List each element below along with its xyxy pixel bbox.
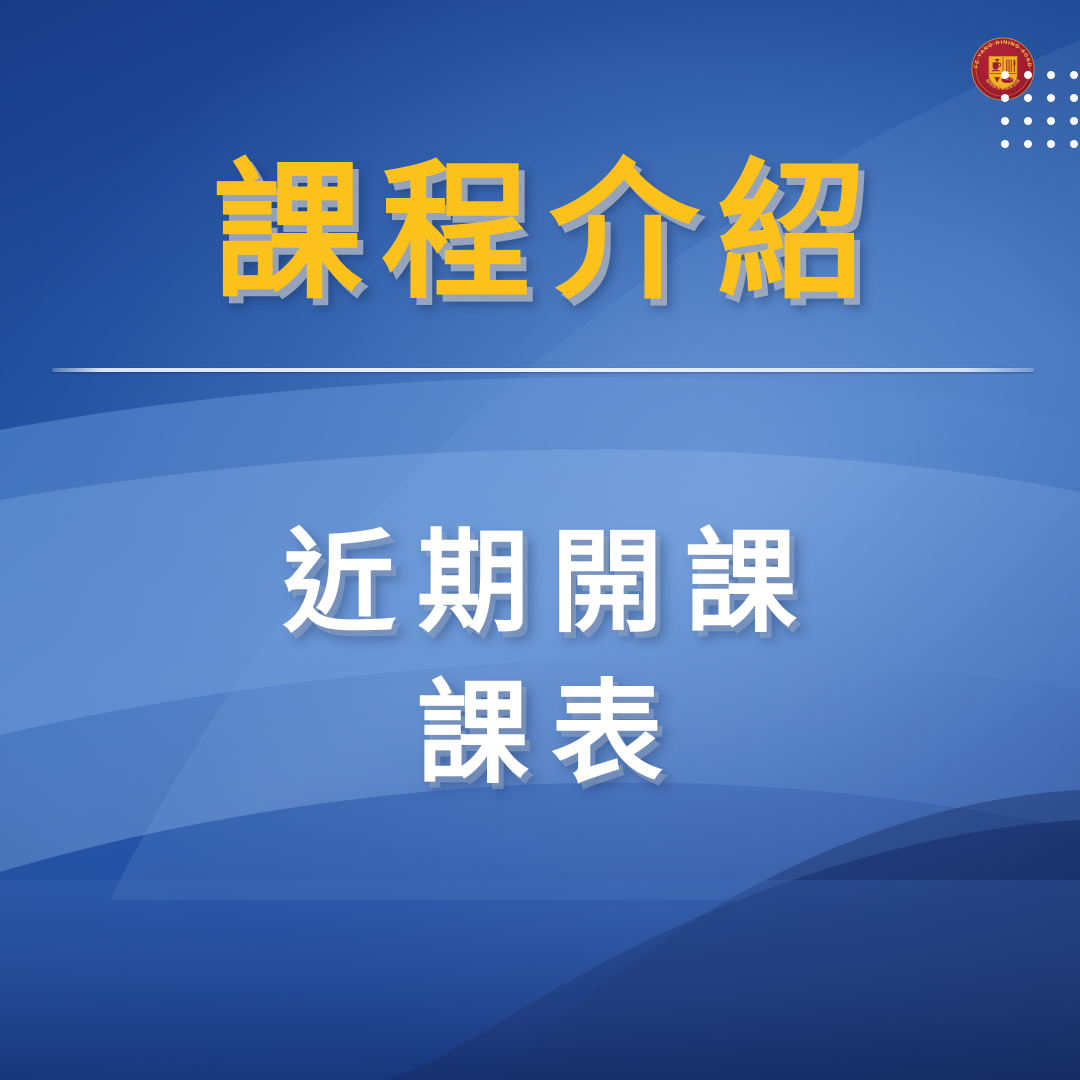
- subtitle-line-1: 近期開課: [0, 508, 1080, 659]
- title-divider-rule: [52, 368, 1034, 372]
- slide-root: CAFFE YANG DINING ACADEMY 咖啡揚餐飲職業訓練: [0, 0, 1080, 1080]
- page-title: 課程介紹: [0, 152, 1080, 314]
- page-title-text: 課程介紹: [195, 152, 885, 314]
- dot-grid-decoration: [996, 66, 1080, 150]
- subtitle-line-2: 課表: [0, 659, 1080, 810]
- subtitle-block: 近期開課 課表: [0, 508, 1080, 810]
